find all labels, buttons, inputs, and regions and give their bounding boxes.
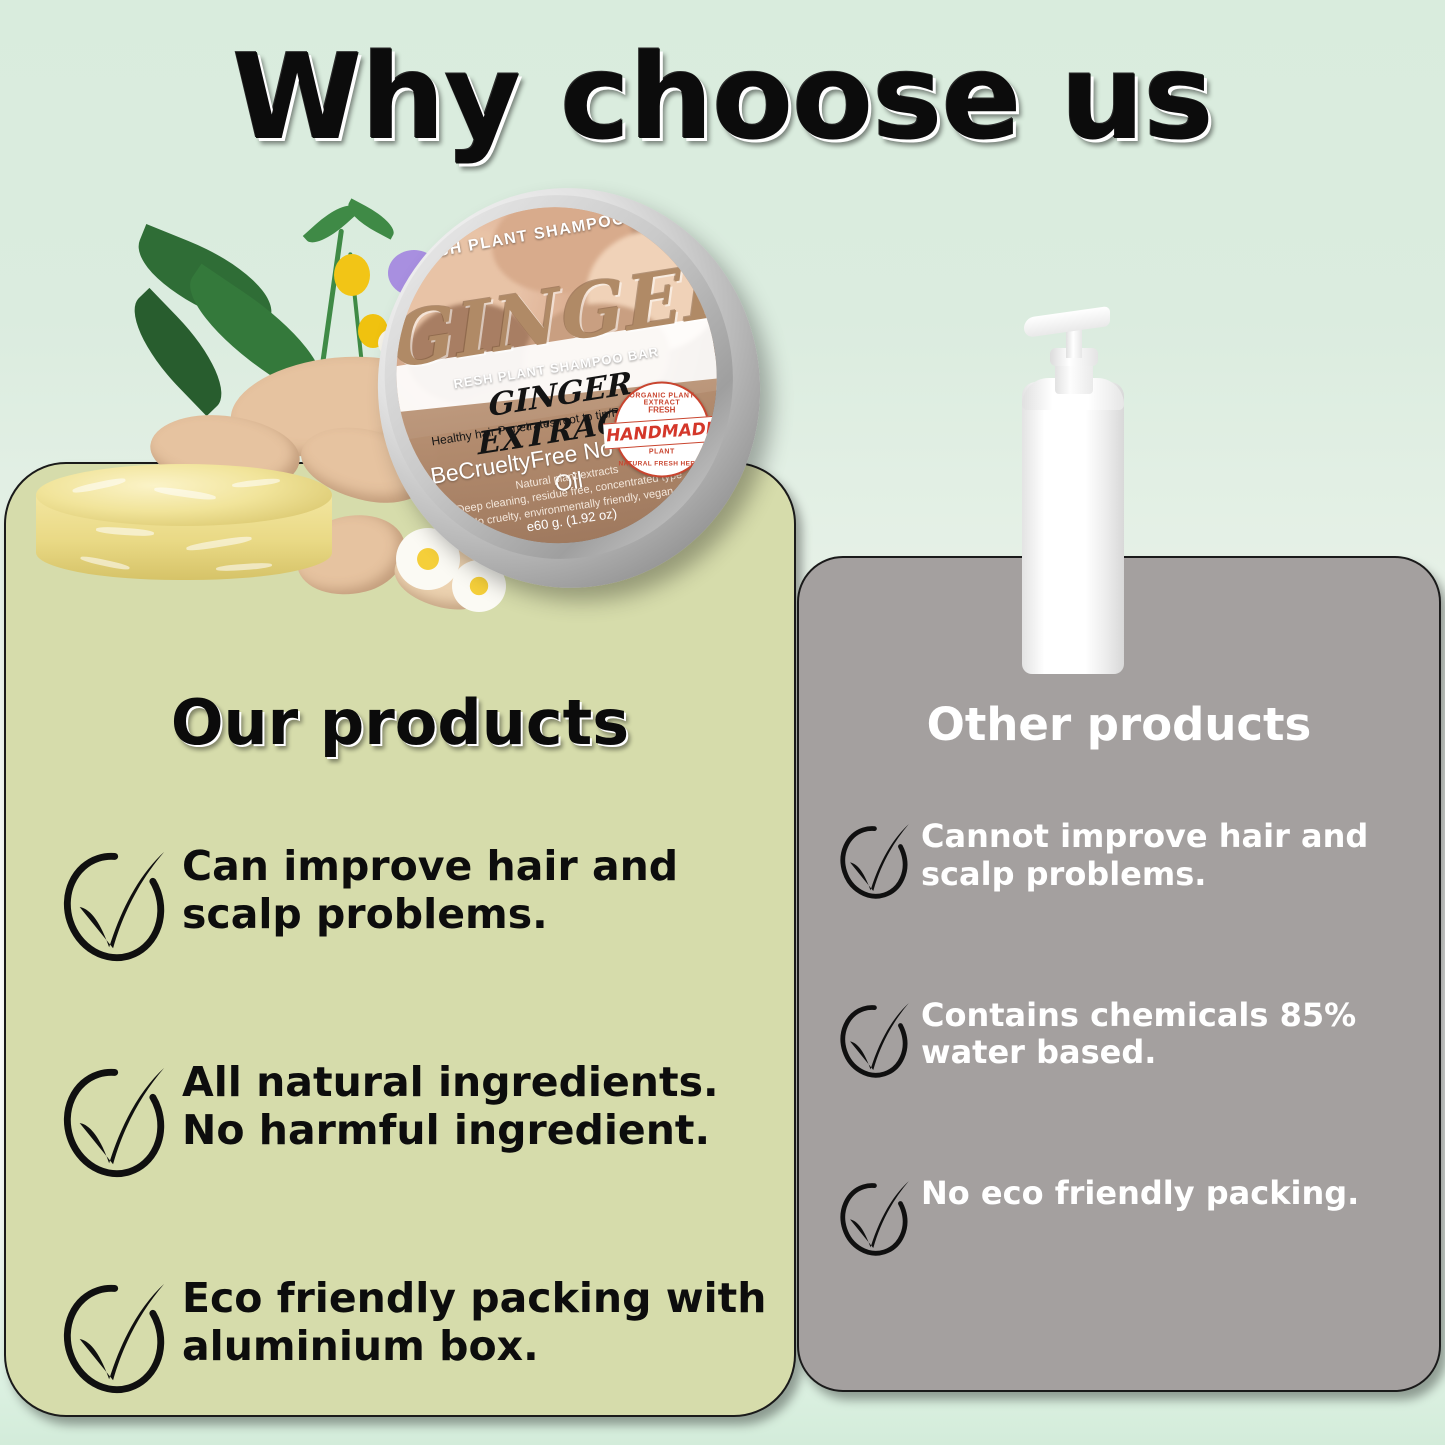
- shampoo-bar-photo: [36, 464, 332, 606]
- check-circle-icon: [835, 999, 917, 1080]
- list-item-label: Eco friendly packing with aluminium box.: [182, 1274, 794, 1371]
- white-pump-bottle-photo: [1022, 312, 1124, 674]
- list-item: Eco friendly packing with aluminium box.: [6, 1274, 794, 1394]
- badge-ring-bottom-2: NATURAL FRESH HERBS: [616, 460, 708, 467]
- list-item-label: No eco friendly packing.: [921, 1175, 1359, 1213]
- check-circle-icon: [835, 1177, 917, 1258]
- badge-ring-mid: FRESH: [616, 405, 708, 414]
- check-circle-icon: [58, 1278, 176, 1394]
- list-item-label: Cannot improve hair and scalp problems.: [921, 818, 1439, 894]
- list-item: Contains chemicals 85% water based.: [799, 997, 1439, 1080]
- list-item-label: Contains chemicals 85% water based.: [921, 997, 1439, 1073]
- infographic-canvas: Why choose us Our products Can improve h…: [0, 0, 1445, 1445]
- our-products-list: Can improve hair and scalp problems. All…: [6, 842, 794, 1445]
- ginger-shampoo-bar-tin: RESH PLANT SHAMPOO BAR GINGER RESH PLANT…: [358, 169, 780, 607]
- check-circle-icon: [58, 1062, 176, 1178]
- badge-ring-bottom: PLANT: [616, 448, 708, 455]
- list-item: All natural ingredients. No harmful ingr…: [6, 1058, 794, 1178]
- page-title: Why choose us: [0, 36, 1445, 160]
- list-item: Can improve hair and scalp problems.: [6, 842, 794, 962]
- list-item-label: All natural ingredients. No harmful ingr…: [182, 1058, 794, 1155]
- other-products-heading: Other products: [799, 698, 1439, 751]
- list-item: No eco friendly packing.: [799, 1175, 1439, 1258]
- check-circle-icon: [58, 846, 176, 962]
- badge-ring-top: ORGANIC PLANT EXTRACT: [616, 392, 708, 406]
- check-circle-icon: [835, 820, 917, 901]
- badge-label: HANDMADE: [603, 415, 721, 449]
- other-products-panel: Other products Cannot improve hair and s…: [797, 556, 1441, 1392]
- list-item: Cannot improve hair and scalp problems.: [799, 818, 1439, 901]
- handmade-badge: ORGANIC PLANT EXTRACT FRESH HANDMADE PLA…: [614, 381, 710, 477]
- other-products-list: Cannot improve hair and scalp problems. …: [799, 818, 1439, 1354]
- list-item-label: Can improve hair and scalp problems.: [182, 842, 794, 939]
- our-products-heading: Our products: [6, 686, 794, 759]
